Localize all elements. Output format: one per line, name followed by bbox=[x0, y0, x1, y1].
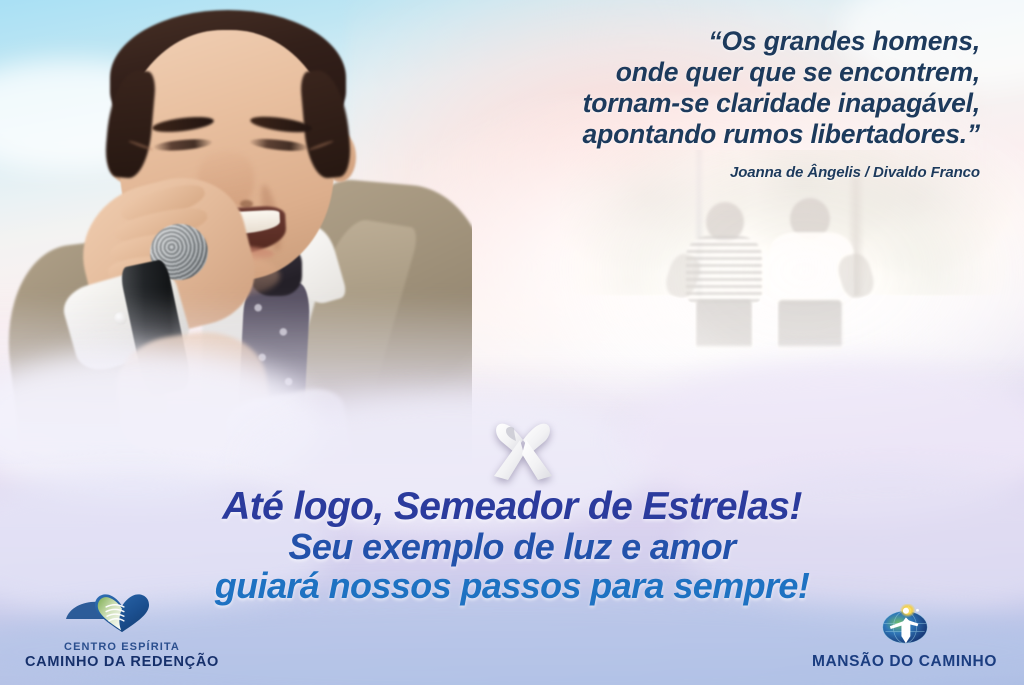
hands-heart-icon bbox=[22, 592, 222, 638]
quote-line-2: onde quer que se encontrem, bbox=[420, 57, 980, 88]
cuff-button bbox=[114, 312, 127, 325]
quote-attribution: Joanna de Ângelis / Divaldo Franco bbox=[420, 164, 980, 181]
mourning-ribbon-icon bbox=[484, 406, 562, 486]
memorial-poster: “Os grandes homens, onde quer que se enc… bbox=[0, 0, 1024, 685]
headline-line-1: Até logo, Semeador de Estrelas! bbox=[0, 486, 1024, 527]
quote-line-4: apontando rumos libertadores.” bbox=[420, 119, 980, 150]
logo-centro-espirita-caminho-da-redencao: CENTRO ESPÍRITA CAMINHO DA REDENÇÃO bbox=[22, 592, 222, 671]
logo-left-line-1: CENTRO ESPÍRITA bbox=[22, 641, 222, 654]
quote-line-3: tornam-se claridade inapagável, bbox=[420, 88, 980, 119]
logo-left-line-2: CAMINHO DA REDENÇÃO bbox=[22, 654, 222, 671]
globe-figure-icon bbox=[797, 604, 1012, 650]
headline-line-2: Seu exemplo de luz e amor bbox=[0, 527, 1024, 566]
quote-line-1: “Os grandes homens, bbox=[420, 26, 980, 57]
headline-block: Até logo, Semeador de Estrelas! Seu exem… bbox=[0, 486, 1024, 605]
quote-block: “Os grandes homens, onde quer que se enc… bbox=[420, 26, 980, 181]
logo-mansao-do-caminho: MANSÃO DO CAMINHO bbox=[797, 604, 1012, 671]
logo-right-line-1: MANSÃO DO CAMINHO bbox=[797, 653, 1012, 671]
photo-fence bbox=[840, 300, 970, 346]
